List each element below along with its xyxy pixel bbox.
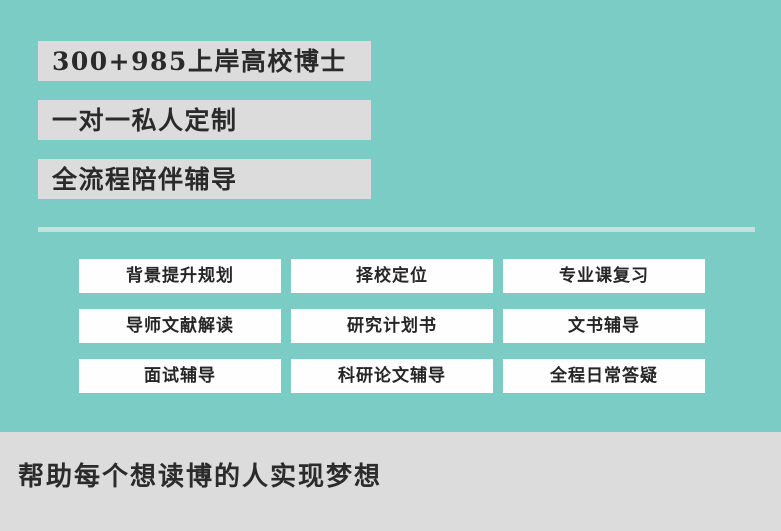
tagline-text: 帮助每个想读博的人实现梦想 — [18, 464, 382, 490]
service-card: 背景提升规划 — [79, 259, 281, 293]
service-card: 导师文献解读 — [79, 309, 281, 343]
headline-banner-2: 一对一私人定制 — [38, 100, 371, 140]
service-card: 专业课复习 — [503, 259, 705, 293]
service-label: 全程日常答疑 — [550, 368, 658, 385]
service-card: 科研论文辅导 — [291, 359, 493, 393]
section-divider — [38, 227, 755, 232]
headline-banner-stack: 300+985上岸高校博士 一对一私人定制 全流程陪伴辅导 — [38, 41, 371, 199]
service-label: 科研论文辅导 — [338, 368, 446, 385]
service-label: 择校定位 — [356, 268, 428, 285]
service-label: 面试辅导 — [144, 368, 216, 385]
teal-background-panel: 300+985上岸高校博士 一对一私人定制 全流程陪伴辅导 背景提升规划 择校定… — [0, 0, 781, 432]
service-grid: 背景提升规划 择校定位 专业课复习 导师文献解读 研究计划书 文书辅导 面试辅导… — [79, 259, 705, 393]
service-label: 背景提升规划 — [126, 268, 234, 285]
service-label: 文书辅导 — [568, 318, 640, 335]
promo-poster: 300+985上岸高校博士 一对一私人定制 全流程陪伴辅导 背景提升规划 择校定… — [0, 0, 781, 531]
bottom-tagline-bar: 帮助每个想读博的人实现梦想 — [0, 432, 781, 531]
service-label: 专业课复习 — [559, 268, 649, 285]
service-label: 导师文献解读 — [126, 318, 234, 335]
headline-text-1: 300+985上岸高校博士 — [52, 49, 347, 74]
headline-text-2: 一对一私人定制 — [52, 108, 238, 133]
headline-banner-1: 300+985上岸高校博士 — [38, 41, 371, 81]
service-card: 面试辅导 — [79, 359, 281, 393]
service-card: 择校定位 — [291, 259, 493, 293]
service-card: 研究计划书 — [291, 309, 493, 343]
headline-text-3: 全流程陪伴辅导 — [52, 167, 238, 192]
service-card: 文书辅导 — [503, 309, 705, 343]
service-label: 研究计划书 — [347, 318, 437, 335]
headline-banner-3: 全流程陪伴辅导 — [38, 159, 371, 199]
service-card: 全程日常答疑 — [503, 359, 705, 393]
